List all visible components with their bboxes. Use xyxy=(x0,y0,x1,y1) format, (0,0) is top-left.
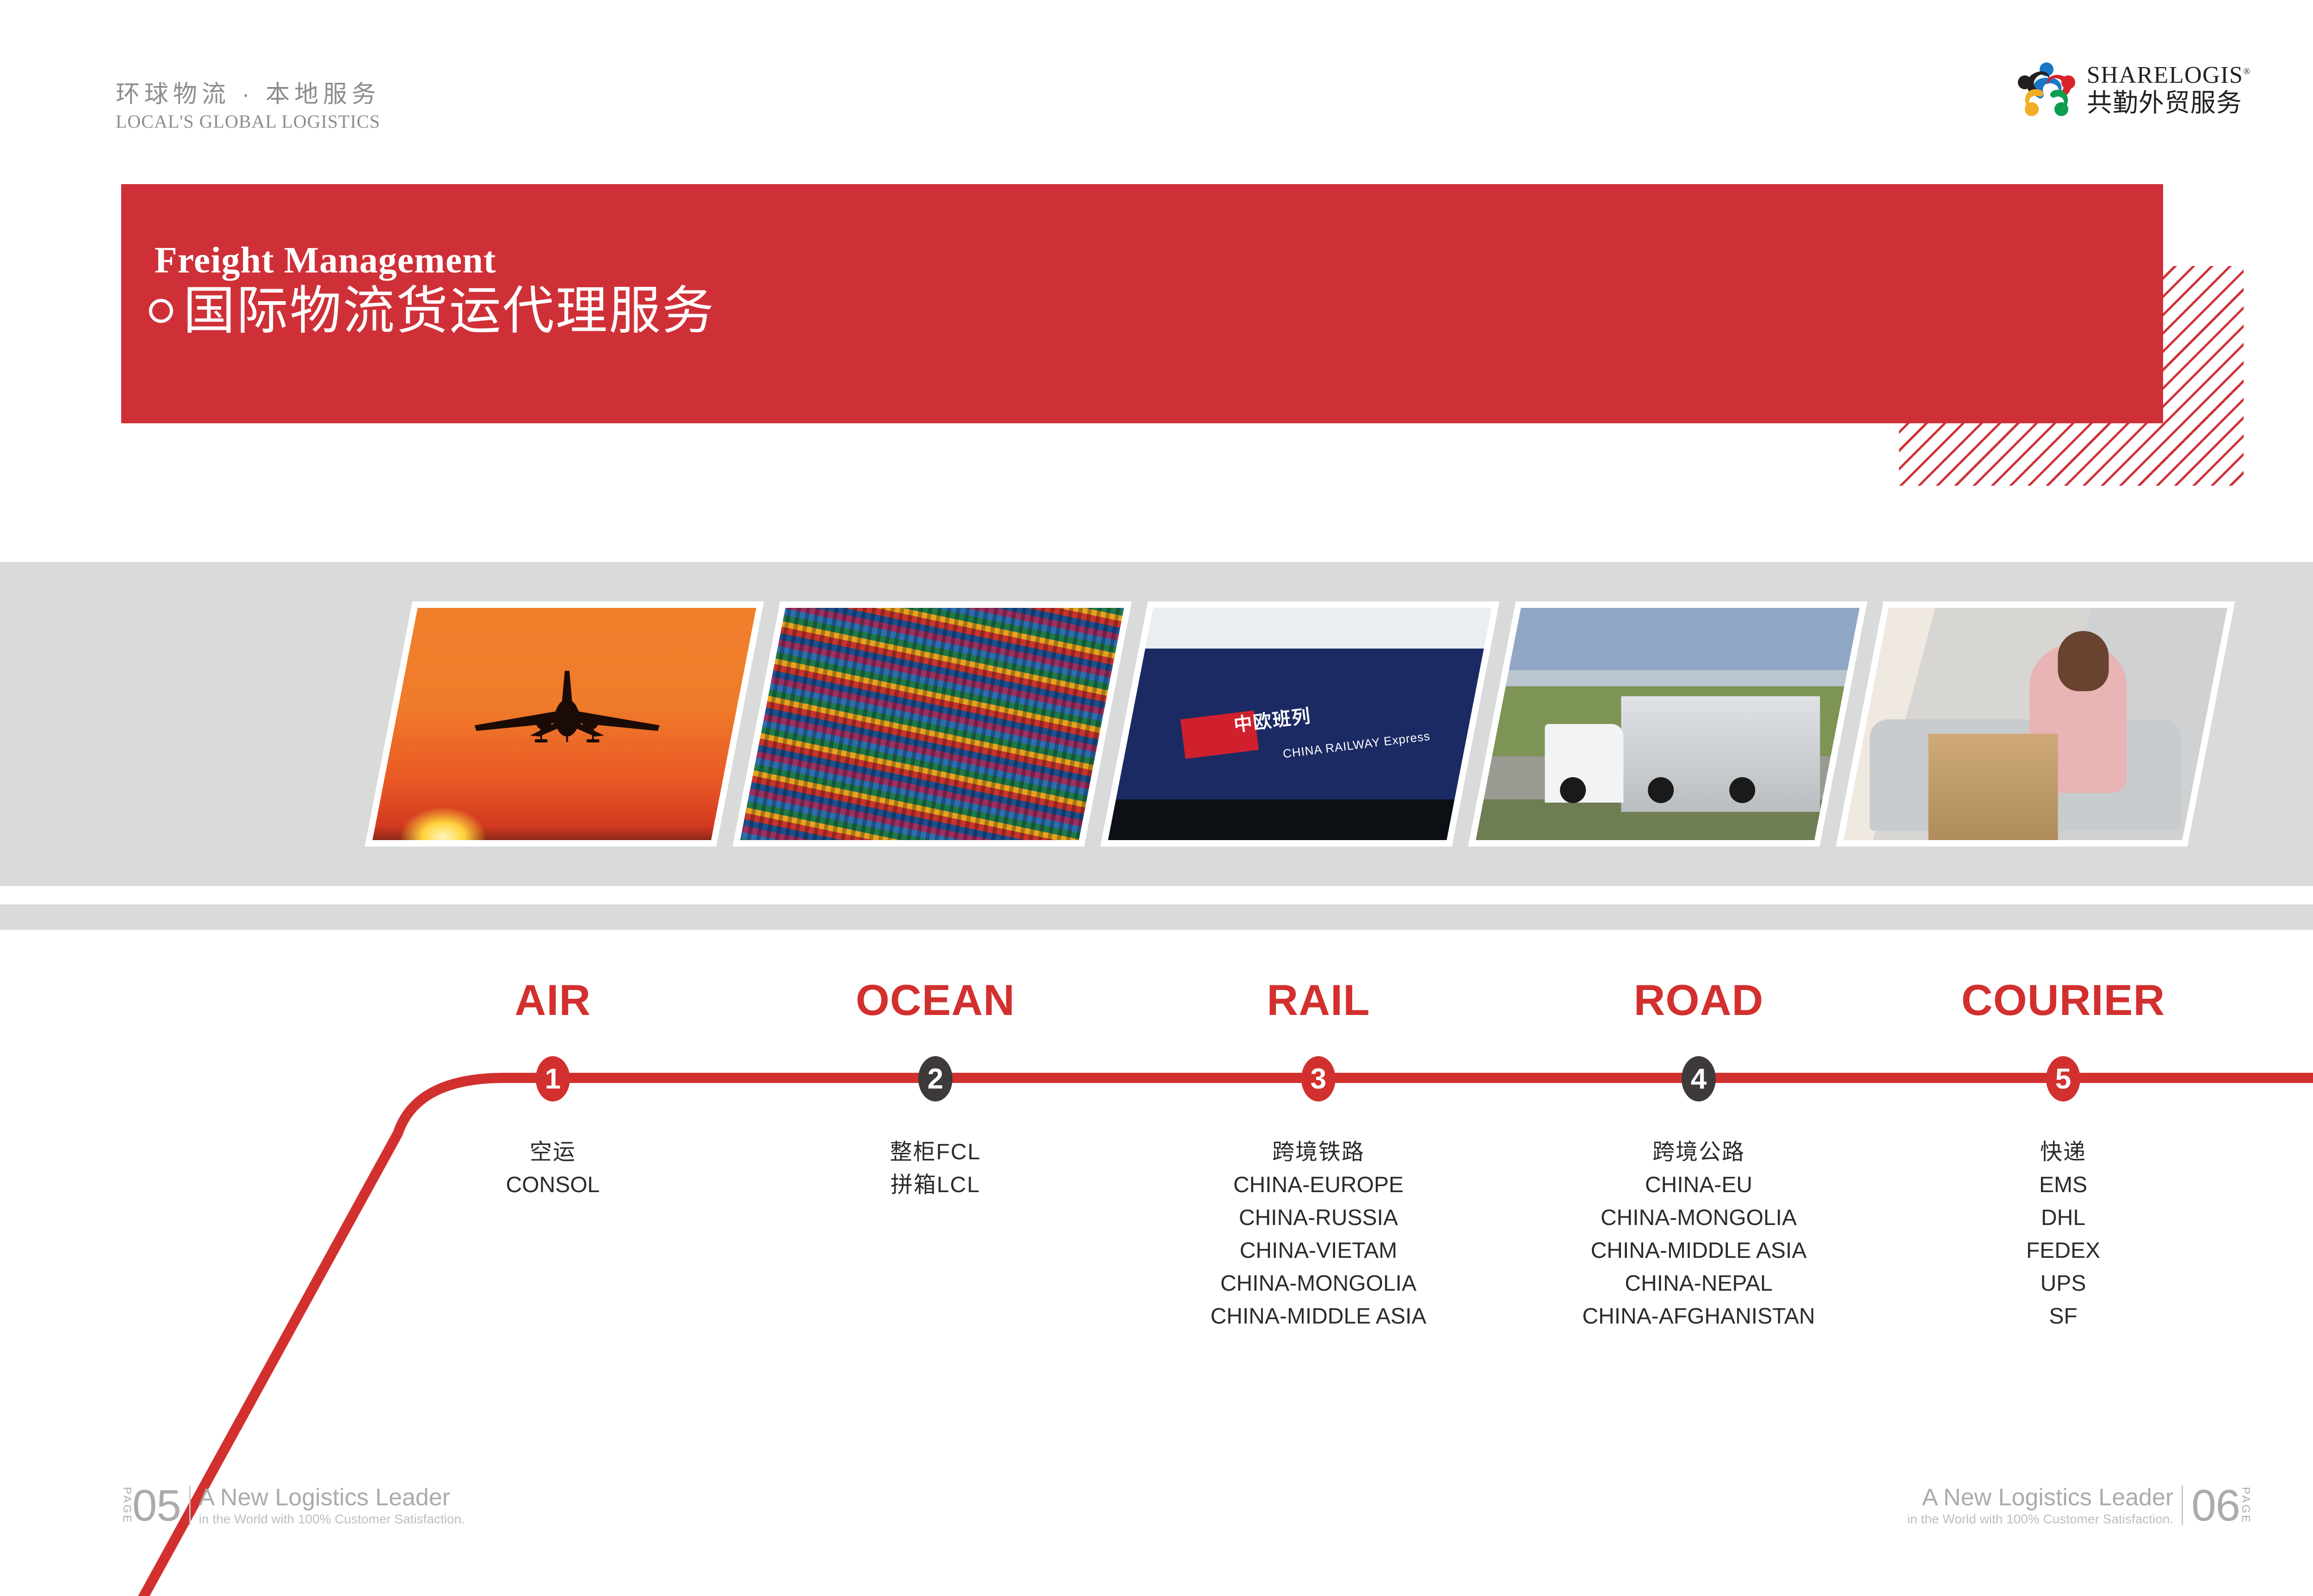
wheel-icon xyxy=(1729,777,1755,803)
service-item: CHINA-MIDDLE ASIA xyxy=(1582,1234,1815,1267)
mode-label-ocean[interactable]: OCEAN xyxy=(856,978,1015,1022)
service-item: 跨境公路 xyxy=(1582,1136,1815,1169)
banner-title-chinese-row: 国际物流货运代理服务 xyxy=(149,285,715,337)
sharelogis-people-circle-icon xyxy=(2016,59,2077,119)
mode-title: OCEAN xyxy=(856,978,1015,1022)
mode-label-air[interactable]: AIR xyxy=(515,978,591,1022)
timeline-badge-4[interactable]: 4 xyxy=(1682,1056,1716,1101)
footer-right: A New Logistics Leader in the World with… xyxy=(1907,1485,2251,1527)
transport-photo-strip: 中欧班列 CHINA RAILWAY Express xyxy=(389,601,2211,847)
airplane-sunset-photo[interactable] xyxy=(365,601,764,847)
rail-container-photo[interactable]: 中欧班列 CHINA RAILWAY Express xyxy=(1100,601,1499,847)
mode-label-courier[interactable]: COURIER xyxy=(1961,978,2165,1022)
mode-title: RAIL xyxy=(1267,978,1370,1022)
footer-right-page-number: 06 xyxy=(2191,1485,2240,1527)
service-item: EMS xyxy=(2026,1169,2100,1201)
mode-title: ROAD xyxy=(1634,978,1764,1022)
banner-title-english: Freight Management xyxy=(155,240,496,282)
brand-logo[interactable]: SHARELOGIS® 共勤外贸服务 xyxy=(2016,59,2251,119)
timeline-badge-1[interactable]: 1 xyxy=(536,1056,570,1101)
service-item: CHINA-MONGOLIA xyxy=(1211,1267,1427,1300)
footer-divider xyxy=(2182,1485,2183,1525)
tagline-english: LOCAL'S GLOBAL LOGISTICS xyxy=(116,111,380,133)
footer-divider xyxy=(189,1485,191,1525)
mode-service-list-air: 空运CONSOL xyxy=(506,1136,600,1201)
service-item: 跨境铁路 xyxy=(1211,1136,1427,1169)
mode-service-list-ocean: 整柜FCL拼箱LCL xyxy=(890,1136,981,1201)
parcel-box-icon xyxy=(1929,734,2058,840)
wheel-icon xyxy=(1560,777,1586,803)
service-item: CHINA-AFGHANISTAN xyxy=(1582,1300,1815,1333)
footer-left-page-word: PAGE xyxy=(121,1487,132,1524)
brand-logo-text: SHARELOGIS® 共勤外贸服务 xyxy=(2087,63,2251,116)
service-item: CHINA-EUROPE xyxy=(1211,1169,1427,1201)
footer-left-line2: in the World with 100% Customer Satisfac… xyxy=(199,1512,465,1526)
service-item: 空运 xyxy=(506,1136,600,1169)
service-item: CHINA-VIETAM xyxy=(1211,1234,1427,1267)
slide-canvas: 环球物流 · 本地服务 LOCAL'S GLOBAL LOGISTICS xyxy=(0,0,2313,1596)
footer-right-line1: A New Logistics Leader xyxy=(1922,1485,2173,1510)
service-item: SF xyxy=(2026,1300,2100,1333)
wheel-icon xyxy=(1648,777,1674,803)
person-head-shape xyxy=(2058,631,2109,691)
timeline-badge-3[interactable]: 3 xyxy=(1301,1056,1336,1101)
timeline-badge-2[interactable]: 2 xyxy=(918,1056,952,1101)
service-item: 整柜FCL xyxy=(890,1136,981,1169)
title-banner: Freight Management 国际物流货运代理服务 xyxy=(121,184,2163,423)
service-item: CONSOL xyxy=(506,1169,600,1201)
service-item: CHINA-MONGOLIA xyxy=(1582,1201,1815,1234)
service-item: 拼箱LCL xyxy=(890,1169,981,1201)
mode-label-road[interactable]: ROAD xyxy=(1634,978,1764,1022)
service-item: 快递 xyxy=(2026,1136,2100,1169)
footer-right-line2: in the World with 100% Customer Satisfac… xyxy=(1907,1512,2173,1526)
service-item: CHINA-NEPAL xyxy=(1582,1267,1815,1300)
tagline-chinese: 环球物流 · 本地服务 xyxy=(116,81,380,109)
service-item: UPS xyxy=(2026,1267,2100,1300)
timeline-badge-5[interactable]: 5 xyxy=(2046,1056,2080,1101)
shipping-containers-photo[interactable] xyxy=(732,601,1132,847)
service-item: CHINA-EU xyxy=(1582,1169,1815,1201)
mode-service-list-courier: 快递EMSDHLFEDEXUPSSF xyxy=(2026,1136,2100,1333)
brand-name-cn: 共勤外贸服务 xyxy=(2087,90,2251,116)
courier-parcel-photo[interactable] xyxy=(1836,601,2235,847)
service-item: CHINA-MIDDLE ASIA xyxy=(1211,1300,1427,1333)
mode-service-list-road: 跨境公路CHINA-EUCHINA-MONGOLIACHINA-MIDDLE A… xyxy=(1582,1136,1815,1333)
airplane-icon xyxy=(470,666,664,754)
footer-left-page-number: 05 xyxy=(132,1485,181,1527)
mode-title: COURIER xyxy=(1961,978,2165,1022)
service-item: CHINA-RUSSIA xyxy=(1211,1201,1427,1234)
header-tagline: 环球物流 · 本地服务 LOCAL'S GLOBAL LOGISTICS xyxy=(116,81,380,133)
mode-label-rail[interactable]: RAIL xyxy=(1267,978,1370,1022)
banner-title-chinese: 国际物流货运代理服务 xyxy=(183,285,715,337)
mode-title: AIR xyxy=(515,978,591,1022)
service-item: DHL xyxy=(2026,1201,2100,1234)
circle-outline-icon xyxy=(149,299,173,323)
footer-right-page-word: PAGE xyxy=(2240,1487,2251,1524)
service-item: FEDEX xyxy=(2026,1234,2100,1267)
footer-left-line1: A New Logistics Leader xyxy=(199,1485,465,1510)
brand-name-en: SHARELOGIS® xyxy=(2087,63,2251,87)
truck-highway-photo[interactable] xyxy=(1468,601,1867,847)
mode-service-list-rail: 跨境铁路CHINA-EUROPECHINA-RUSSIACHINA-VIETAM… xyxy=(1211,1136,1427,1333)
footer-left: PAGE 05 A New Logistics Leader in the Wo… xyxy=(121,1485,465,1527)
